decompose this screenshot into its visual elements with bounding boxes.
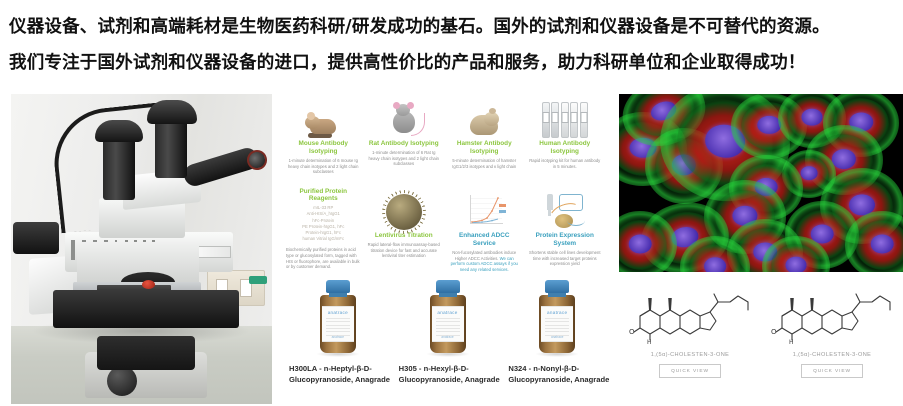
product-description: Biochemically purified proteins in acid … bbox=[286, 247, 361, 271]
expression-system-illustration-icon bbox=[528, 188, 603, 230]
camera-body-left bbox=[95, 120, 143, 142]
product-card-lentivirus-titration[interactable]: Lentivirus Titration Rapid lateral-flow … bbox=[364, 188, 445, 273]
mouse-illustration-icon bbox=[286, 96, 361, 138]
header-line-2: 我们专注于国外试剂和仪器设备的进口，提供高性价比的产品和服务，助力科研单位和企业… bbox=[9, 49, 806, 74]
bottle-brand: anatrace bbox=[541, 310, 573, 315]
product-card-hamster-isotyping[interactable]: Hamster Antibody Isotyping 5-minute dete… bbox=[444, 96, 525, 175]
chemical-name: 1,(5α)-CHOLESTEN-3-ONE bbox=[793, 352, 872, 358]
product-description: Non-fucosylated antibodies induce Higher… bbox=[447, 250, 522, 273]
product-grid-row-2: Purified Protein Reagents mIL-33 RP Anti… bbox=[283, 188, 605, 273]
immunofluorescence-micrograph bbox=[619, 94, 903, 272]
bottle-image: anatrace anatrace bbox=[533, 280, 581, 354]
chemical-row: O H 1,(5α)-CHOLESTEN-3-ONE QUICK VIEW bbox=[619, 276, 903, 402]
virus-illustration-icon bbox=[367, 188, 442, 230]
rat-illustration-icon bbox=[367, 96, 442, 138]
hamster-illustration-icon bbox=[447, 96, 522, 138]
chart-legend-series-2 bbox=[499, 210, 506, 213]
bottle-brand: anatrace bbox=[432, 310, 464, 315]
product-title: Purified Protein Reagents bbox=[286, 188, 361, 202]
product-title: Enhanced ADCC Service bbox=[447, 232, 522, 248]
side-port-lens bbox=[13, 222, 59, 254]
quick-view-button[interactable]: QUICK VIEW bbox=[659, 364, 721, 378]
steroid-structure-icon: O H bbox=[768, 276, 896, 350]
svg-text:H: H bbox=[789, 339, 794, 346]
product-card-mouse-isotyping[interactable]: Mouse Antibody Isotyping 1-minute determ… bbox=[283, 96, 364, 175]
bottle-image: anatrace anatrace bbox=[314, 280, 362, 354]
header-copy: 仪器设备、试剂和高端耗材是生物医药科研/研发成功的基石。国外的试剂和仪器设备是不… bbox=[0, 0, 903, 90]
adcc-line-chart-icon bbox=[447, 188, 522, 230]
quick-view-button[interactable]: QUICK VIEW bbox=[801, 364, 863, 378]
camera-body-right bbox=[147, 100, 197, 124]
detergent-product-list: anatrace anatrace H300LA - n-Heptyl-β-D-… bbox=[283, 278, 612, 402]
microscope-stand bbox=[97, 336, 195, 370]
product-grid-row-1: Mouse Antibody Isotyping 1-minute determ… bbox=[283, 96, 605, 175]
bottle-product-h300la[interactable]: anatrace anatrace H300LA - n-Heptyl-β-D-… bbox=[283, 278, 393, 402]
mechanical-stage bbox=[53, 290, 239, 328]
bottle-product-name: H305 - n-Hexyl-β-D-Glucopyranoside, Anag… bbox=[393, 363, 503, 385]
product-description: 5-minute determination of hamster IgG1/2… bbox=[447, 158, 522, 169]
svg-text:H: H bbox=[647, 339, 652, 346]
adcc-chart-svg bbox=[471, 197, 501, 223]
antibody-product-grid: Mouse Antibody Isotyping 1-minute determ… bbox=[283, 94, 605, 276]
product-title: Protein Expression System bbox=[528, 232, 603, 248]
bottle-product-h305[interactable]: anatrace anatrace H305 - n-Hexyl-β-D-Glu… bbox=[393, 278, 503, 402]
product-title: Human Antibody Isotyping bbox=[528, 140, 603, 156]
bottle-product-n324[interactable]: anatrace anatrace N324 - n-Nonyl-β-D-Glu… bbox=[502, 278, 612, 402]
product-title: Mouse Antibody Isotyping bbox=[286, 140, 361, 156]
product-description: 1-minute determination of 6 Rat Ig heavy… bbox=[367, 150, 442, 167]
product-title: Hamster Antibody Isotyping bbox=[447, 140, 522, 156]
focus-knob bbox=[107, 366, 137, 396]
product-card-human-isotyping[interactable]: Human Antibody Isotyping Rapid isotyping… bbox=[525, 96, 606, 175]
stage-indicator bbox=[142, 280, 155, 289]
steroid-structure-icon: O H bbox=[626, 276, 754, 350]
chemical-structure-list: O H 1,(5α)-CHOLESTEN-3-ONE QUICK VIEW bbox=[619, 276, 903, 402]
product-card-purified-protein-reagents[interactable]: Purified Protein Reagents mIL-33 RP Anti… bbox=[283, 188, 364, 273]
product-description: Rapid isotyping kit for human antibody i… bbox=[528, 158, 603, 169]
reagent-item: human Vitrial IgG/mFc bbox=[286, 236, 361, 242]
product-description: Rapid lateral-flow immunoassay-based tit… bbox=[367, 242, 442, 259]
product-card-rat-isotyping[interactable]: Rat Antibody Isotyping 1-minute determin… bbox=[364, 96, 445, 175]
bottle-brand: anatrace bbox=[322, 310, 354, 315]
chemical-card-cholesten-3-one-1[interactable]: O H 1,(5α)-CHOLESTEN-3-ONE QUICK VIEW bbox=[619, 276, 761, 402]
cartridge-device-icon bbox=[528, 96, 603, 138]
product-title: Rat Antibody Isotyping bbox=[367, 140, 442, 148]
product-card-protein-expression-system[interactable]: Protein Expression System Shortens stabl… bbox=[525, 188, 606, 273]
product-card-enhanced-adcc-service[interactable]: Enhanced ADCC Service Non-fucosylated an… bbox=[444, 188, 525, 273]
bottle-product-name: N324 - n-Nonyl-β-D-Glucopyranoside, Anag… bbox=[502, 363, 612, 385]
chemical-name: 1,(5α)-CHOLESTEN-3-ONE bbox=[651, 352, 730, 358]
fluorescence-microscope-photo bbox=[11, 94, 272, 404]
header-line-1: 仪器设备、试剂和高端耗材是生物医药科研/研发成功的基石。国外的试剂和仪器设备是不… bbox=[9, 13, 830, 38]
product-description: 1-minute determination of 6 mouse Ig hea… bbox=[286, 158, 361, 175]
chart-legend-series-1 bbox=[499, 204, 506, 207]
banner-page: 仪器设备、试剂和高端耗材是生物医药科研/研发成功的基石。国外的试剂和仪器设备是不… bbox=[0, 0, 903, 406]
bottle-product-name: H300LA - n-Heptyl-β-D-Glucopyranoside, A… bbox=[283, 363, 393, 385]
svg-text:O: O bbox=[629, 328, 635, 336]
camera-tube-right bbox=[155, 116, 187, 178]
camera-tube-left bbox=[103, 134, 135, 200]
network-plug bbox=[249, 276, 267, 284]
bottle-row: anatrace anatrace H300LA - n-Heptyl-β-D-… bbox=[283, 278, 612, 402]
chemical-card-cholesten-3-one-2[interactable]: O H 1,(5α)-CHOLESTEN-3-ONE QUICK VIEW bbox=[761, 276, 903, 402]
svg-text:O: O bbox=[771, 328, 777, 336]
bottle-image: anatrace anatrace bbox=[424, 280, 472, 354]
product-description: Shortens stable cell lines development t… bbox=[528, 250, 603, 267]
